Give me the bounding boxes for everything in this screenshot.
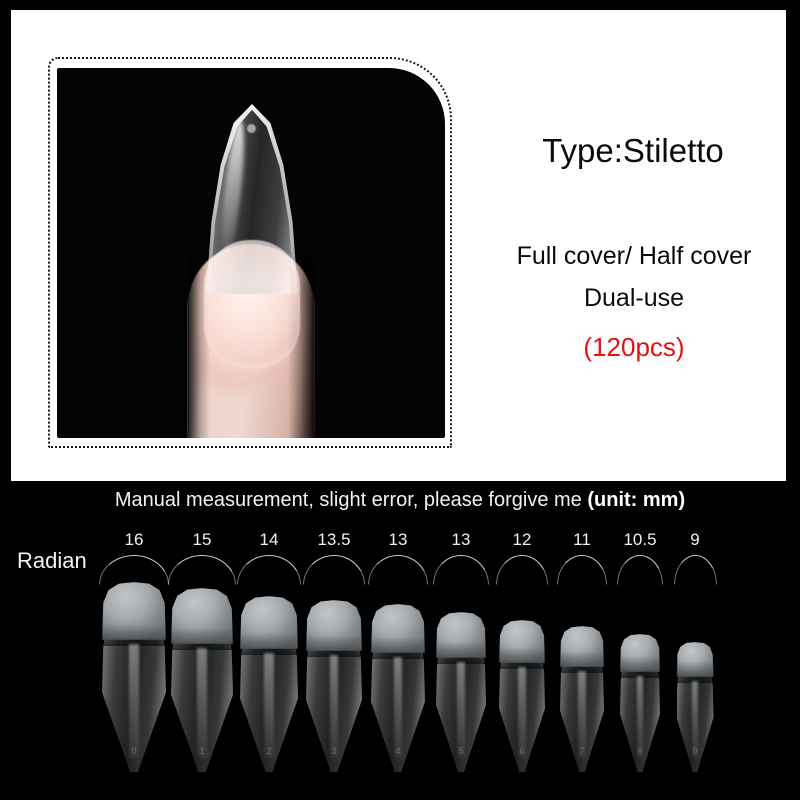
nail-tip-column[interactable]: 135 bbox=[427, 520, 495, 790]
cover-feature-line: Full cover/ Half cover bbox=[469, 242, 799, 271]
nail-tip-column[interactable]: 151 bbox=[168, 520, 236, 790]
product-photo bbox=[57, 68, 445, 438]
radian-arc bbox=[617, 555, 663, 585]
radian-arc bbox=[557, 555, 607, 585]
nail-tip-spine-highlight bbox=[578, 671, 585, 758]
radian-value-label: 12 bbox=[488, 530, 556, 550]
nail-tip-column[interactable]: 142 bbox=[235, 520, 303, 790]
nail-tip-column[interactable]: 160 bbox=[100, 520, 168, 790]
radian-arc bbox=[237, 555, 301, 585]
nail-tip-cap-shadow bbox=[436, 642, 486, 664]
nail-tip-size-number: 4 bbox=[364, 746, 432, 756]
radian-arc bbox=[368, 555, 428, 585]
measurement-note-text: Manual measurement, slight error, please… bbox=[115, 489, 587, 511]
radian-value-label: 13 bbox=[427, 530, 495, 550]
nail-tip-cap-shadow bbox=[171, 628, 233, 650]
nail-tip-spine-highlight bbox=[197, 648, 207, 758]
nail-tip-column[interactable]: 99 bbox=[661, 520, 729, 790]
radian-arc bbox=[303, 555, 365, 585]
nail-tip-cap-shadow bbox=[560, 651, 604, 673]
top-white-panel: Type:Stiletto Full cover/ Half cover Dua… bbox=[11, 10, 786, 481]
nail-tip-cap-shadow bbox=[620, 656, 660, 678]
nail-tip-cap-shadow bbox=[371, 637, 425, 659]
nail-tip-size-number: 6 bbox=[488, 746, 556, 756]
nail-tip-cap-shadow bbox=[240, 633, 298, 655]
nail-tip-spine-highlight bbox=[264, 653, 273, 758]
radian-arc bbox=[433, 555, 489, 585]
nail-tip-size-number: 2 bbox=[235, 746, 303, 756]
nail-tip-cap-shadow bbox=[102, 624, 166, 646]
nail-tip-size-mark bbox=[247, 124, 256, 133]
nail-tip-cap-shadow bbox=[499, 647, 545, 669]
product-type-title: Type:Stiletto bbox=[473, 132, 793, 170]
nail-tip-column[interactable]: 134 bbox=[364, 520, 432, 790]
nail-tip-cap-shadow bbox=[306, 635, 362, 657]
nail-tip-column[interactable]: 126 bbox=[488, 520, 556, 790]
nail-tip-spine-highlight bbox=[330, 655, 339, 758]
measurement-unit-text: (unit: mm) bbox=[587, 489, 685, 511]
nail-tip-spine-highlight bbox=[129, 644, 139, 758]
product-image-canvas: Type:Stiletto Full cover/ Half cover Dua… bbox=[0, 0, 800, 800]
nail-tip-cap-shadow bbox=[677, 661, 714, 683]
nail-tip-size-number: 1 bbox=[168, 746, 236, 756]
nail-tip-size-number: 3 bbox=[300, 746, 368, 756]
nail-tip-spine-highlight bbox=[457, 662, 465, 758]
measurement-note: Manual measurement, slight error, please… bbox=[0, 489, 800, 512]
quantity-badge: (120pcs) bbox=[469, 332, 799, 363]
nail-tip-column[interactable]: 13.53 bbox=[300, 520, 368, 790]
dual-use-line: Dual-use bbox=[469, 284, 799, 313]
radian-value-label: 13.5 bbox=[300, 530, 368, 550]
nail-tip-spine-highlight bbox=[518, 667, 525, 758]
radian-arc bbox=[674, 555, 717, 585]
radian-value-label: 16 bbox=[100, 530, 168, 550]
radian-value-label: 15 bbox=[168, 530, 236, 550]
nail-tip-size-number: 0 bbox=[100, 746, 168, 756]
radian-value-label: 13 bbox=[364, 530, 432, 550]
nail-tip-size-number: 5 bbox=[427, 746, 495, 756]
radian-value-label: 9 bbox=[661, 530, 729, 550]
nail-tip-spine-highlight bbox=[394, 657, 403, 758]
nail-tips-row: 16015114213.5313413512611710.5899 bbox=[0, 520, 800, 790]
radian-value-label: 14 bbox=[235, 530, 303, 550]
radian-arc bbox=[168, 555, 236, 585]
radian-arc bbox=[496, 555, 548, 585]
radian-arc bbox=[99, 555, 169, 585]
nail-tip-size-number: 9 bbox=[661, 746, 729, 756]
